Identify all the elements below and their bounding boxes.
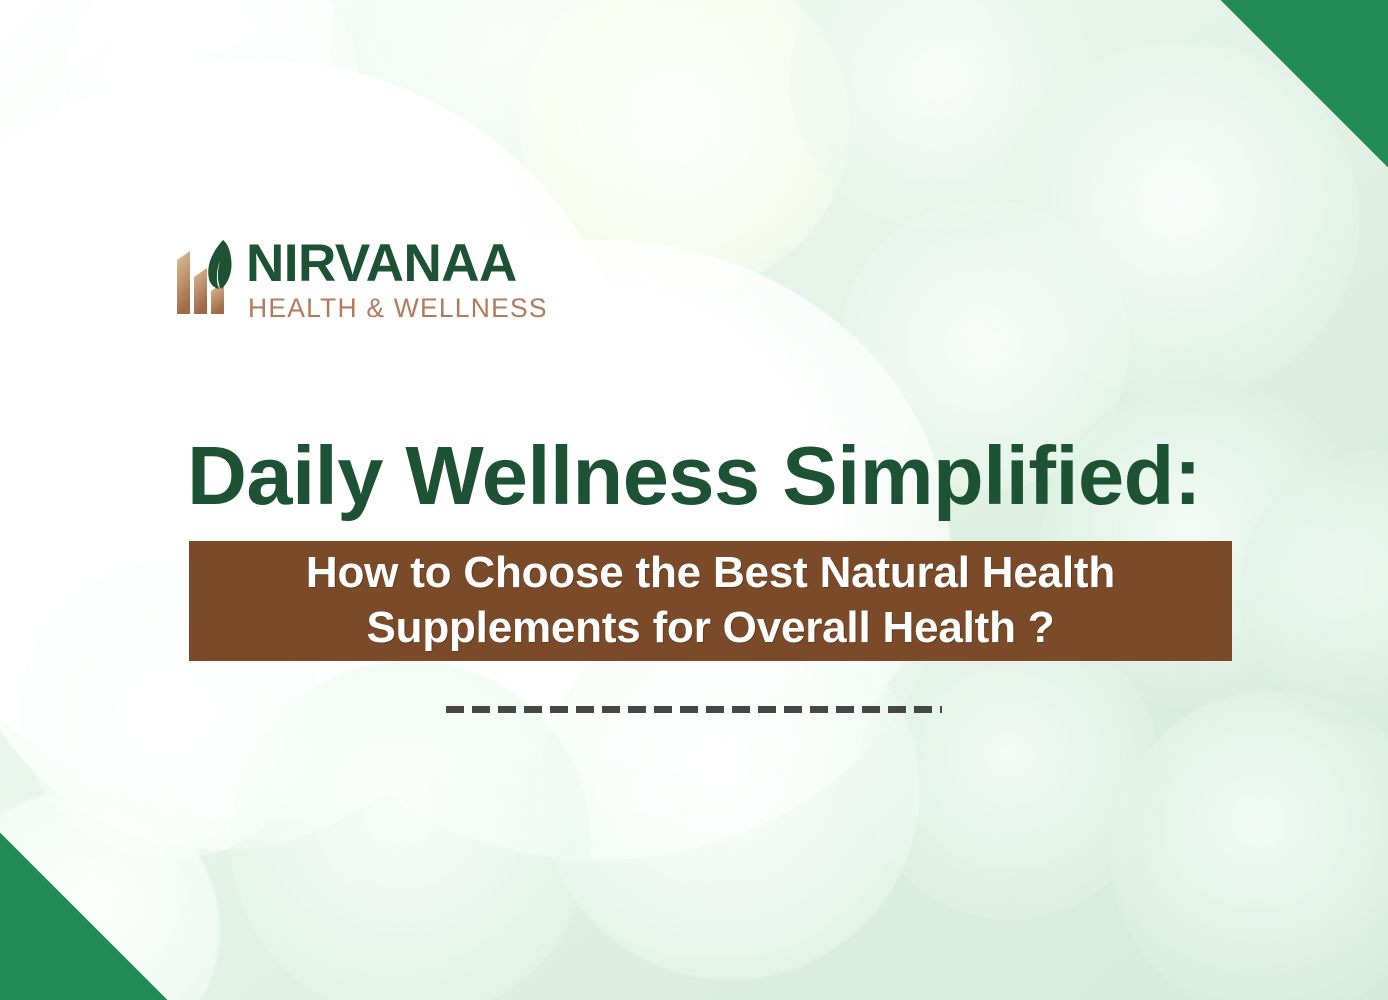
brand-logo-text: NIRVANAA HEALTH & WELLNESS (246, 238, 548, 325)
brand-name: NIRVANAA (246, 238, 548, 290)
poster-canvas: NIRVANAA HEALTH & WELLNESS Daily Wellnes… (0, 0, 1388, 1000)
brand-logo: NIRVANAA HEALTH & WELLNESS (176, 238, 548, 325)
dashed-divider (446, 706, 942, 713)
subtitle-line-1: How to Choose the Best Natural Health (306, 546, 1115, 601)
brand-tagline: HEALTH & WELLNESS (248, 292, 548, 325)
ascending-bars-leaf-icon (176, 238, 238, 314)
subtitle-banner: How to Choose the Best Natural Health Su… (189, 541, 1232, 661)
subtitle-line-2: Supplements for Overall Health ? (367, 601, 1055, 656)
page-title: Daily Wellness Simplified: (0, 434, 1388, 517)
